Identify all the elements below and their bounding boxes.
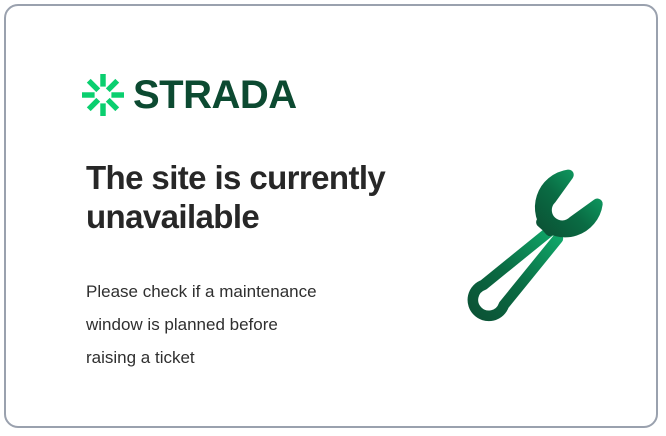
description-line: Please check if a maintenance	[86, 275, 416, 308]
error-page: STRADA The site is currently unavailable…	[0, 0, 666, 436]
strada-asterisk-icon	[82, 74, 124, 116]
wrench-icon	[458, 158, 622, 322]
brand-name: STRADA	[133, 75, 297, 115]
description-line: raising a ticket	[86, 341, 416, 374]
page-title: The site is currently unavailable	[86, 158, 426, 236]
brand-logo: STRADA	[82, 74, 297, 116]
description-line: window is planned before	[86, 308, 416, 341]
message-card: STRADA The site is currently unavailable…	[4, 4, 658, 428]
page-description: Please check if a maintenance window is …	[86, 275, 416, 374]
